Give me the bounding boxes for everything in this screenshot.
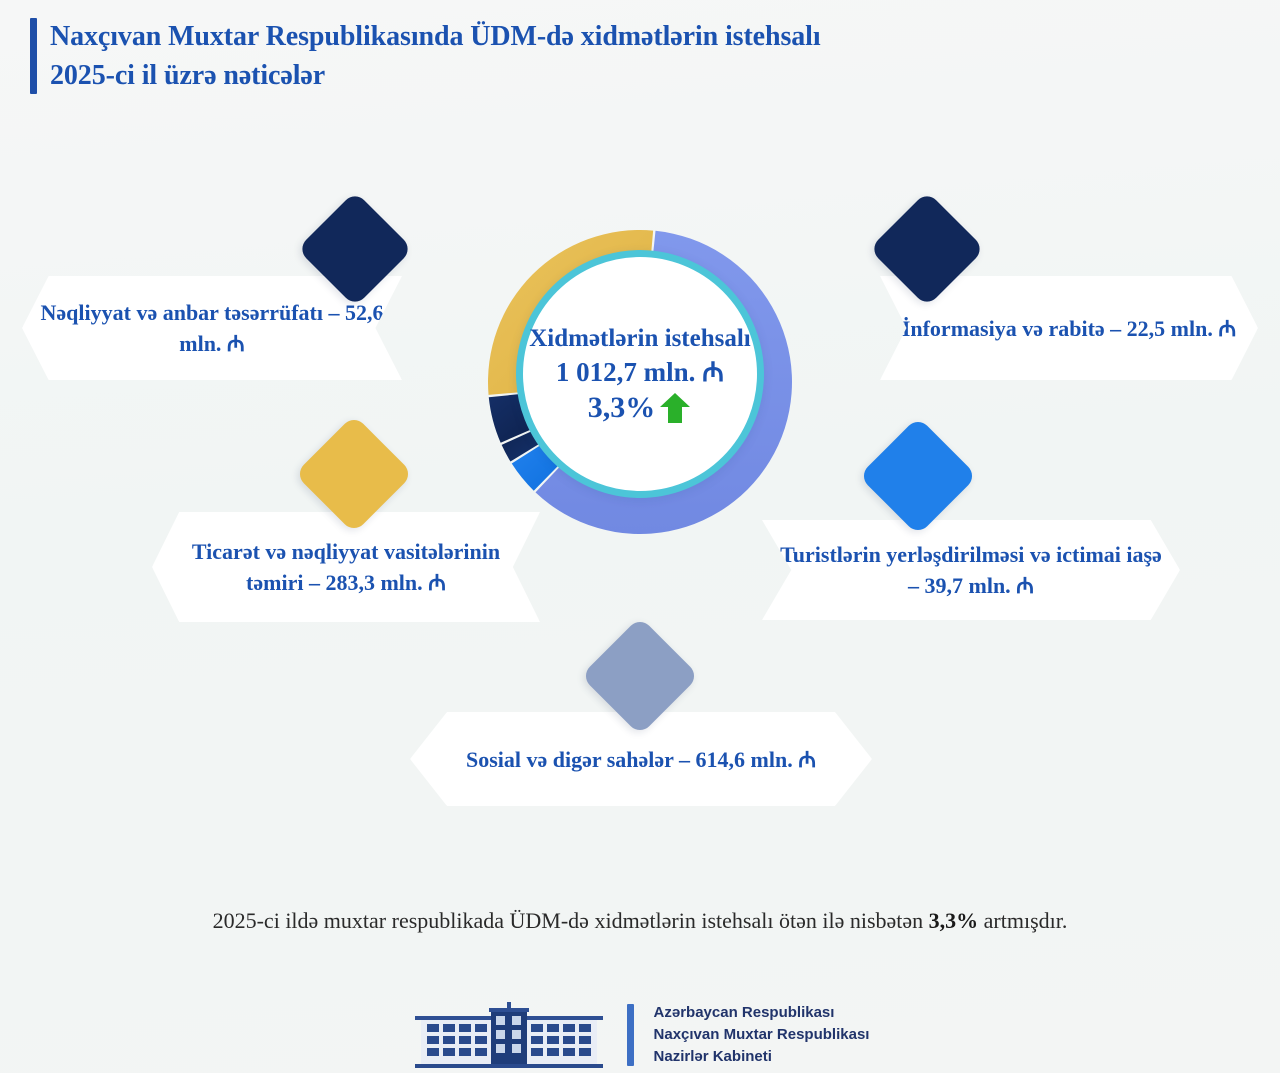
page-title-line-2: 2025-ci il üzrə nəticələr <box>50 57 821 94</box>
arrow-up-icon <box>658 392 692 424</box>
callout-information-label: İnformasiya və rabitə – 22,5 mln. ₼ <box>888 313 1250 344</box>
footer-line-2: Naxçıvan Muxtar Respublikası <box>654 1024 870 1046</box>
callout-transport-label: Nəqliyyat və anbar təsərrüfatı – 52,6 ml… <box>22 297 402 359</box>
caption-suffix: artmışdır. <box>978 908 1067 933</box>
donut-center-value: 1 012,7 mln. ₼ <box>556 354 724 390</box>
summary-caption: 2025-ci ildə muxtar respublikada ÜDM-də … <box>0 906 1280 936</box>
callout-trade: Ticarət və nəqliyyat vasitələrinin təmir… <box>152 512 540 622</box>
footer-divider <box>627 1004 634 1066</box>
caption-prefix: 2025-ci ildə muxtar respublikada ÜDM-də … <box>213 908 929 933</box>
footer-text-block: Azərbaycan Respublikası Naxçıvan Muxtar … <box>654 1002 870 1068</box>
page-title: Naxçıvan Muxtar Respublikasında ÜDM-də x… <box>50 18 821 94</box>
title-accent-bar <box>30 18 37 94</box>
government-building-icon <box>411 1000 607 1070</box>
page-footer: Azərbaycan Respublikası Naxçıvan Muxtar … <box>0 1000 1280 1070</box>
page-header: Naxçıvan Muxtar Respublikasında ÜDM-də x… <box>30 18 821 94</box>
callout-tourism: Turistlərin yerləşdirilməsi və ictimai i… <box>762 520 1180 620</box>
page-title-line-1: Naxçıvan Muxtar Respublikasında ÜDM-də x… <box>50 18 821 55</box>
growth-percent: 3,3% <box>588 391 656 425</box>
diamond-badge-tourism <box>859 417 978 536</box>
callout-tourism-label: Turistlərin yerləşdirilməsi və ictimai i… <box>762 539 1180 601</box>
footer-line-1: Azərbaycan Respublikası <box>654 1002 870 1024</box>
donut-center-growth: 3,3% <box>588 391 693 425</box>
caption-highlight: 3,3% <box>929 908 979 933</box>
donut-center-callout: Xidmətlərin istehsalı 1 012,7 mln. ₼ 3,3… <box>516 250 764 498</box>
callout-trade-label: Ticarət və nəqliyyat vasitələrinin təmir… <box>152 536 540 598</box>
footer-line-3: Nazirlər Kabineti <box>654 1046 870 1068</box>
callout-social-label: Sosial və digər sahələr – 614,6 mln. ₼ <box>452 744 830 775</box>
donut-center-label: Xidmətlərin istehsalı <box>529 323 751 354</box>
